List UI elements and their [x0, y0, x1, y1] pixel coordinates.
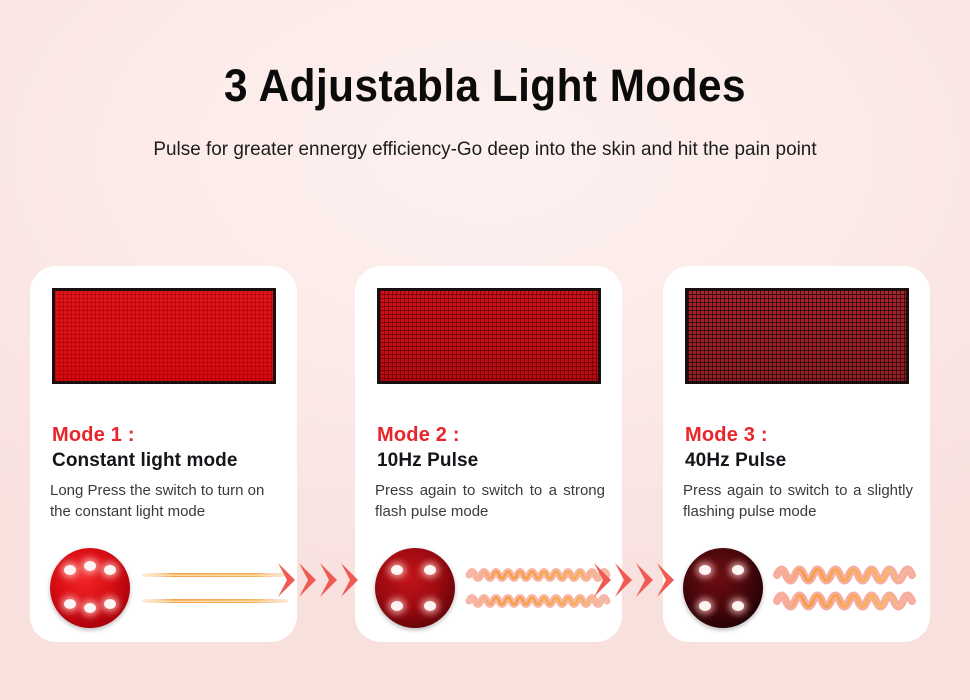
- led-bulb-icon: [683, 548, 763, 628]
- light-beam-wave-tight-icon: [465, 560, 615, 616]
- chevron-right-icon: [657, 563, 674, 597]
- mode-description: Press again to switch to a strong flash …: [375, 480, 605, 522]
- led-dot-icon: [424, 601, 436, 611]
- arrow-chevrons-group: [278, 557, 364, 603]
- light-beam-wave-wide-icon: [773, 560, 923, 616]
- led-dot-icon: [424, 565, 436, 575]
- chevron-right-icon: [636, 563, 653, 597]
- led-dot-icon: [64, 565, 76, 575]
- arrow-chevrons-group: [594, 557, 680, 603]
- chevron-right-icon: [594, 563, 611, 597]
- led-bulb-icon: [375, 548, 455, 628]
- led-panel: [685, 288, 909, 384]
- mode-name: Constant light mode: [52, 450, 238, 472]
- mode-label: Mode 3 :: [685, 424, 768, 447]
- led-dot-icon: [391, 601, 403, 611]
- led-dot-icon: [391, 565, 403, 575]
- emitter-illustration: [369, 542, 619, 634]
- emitter-illustration: [44, 542, 294, 634]
- mode-description: Long Press the switch to turn on the con…: [50, 480, 280, 522]
- chevron-right-icon: [615, 563, 632, 597]
- led-dot-icon: [699, 565, 711, 575]
- chevron-right-icon: [299, 563, 316, 597]
- page-title: 3 Adjustabla Light Modes: [29, 60, 941, 112]
- chevron-right-icon: [278, 563, 295, 597]
- led-dot-icon: [732, 601, 744, 611]
- led-panel: [377, 288, 601, 384]
- chevron-right-icon: [320, 563, 337, 597]
- led-dot-icon: [699, 601, 711, 611]
- mode-card: Mode 2 : 10Hz Pulse Press again to switc…: [355, 266, 622, 642]
- mode-label: Mode 2 :: [377, 424, 460, 447]
- led-dot-icon: [104, 599, 116, 609]
- led-bulb-icon: [50, 548, 130, 628]
- led-dot-icon: [104, 565, 116, 575]
- led-dot-icon: [84, 561, 96, 571]
- page-subtitle: Pulse for greater ennergy efficiency-Go …: [15, 138, 956, 161]
- mode-label: Mode 1 :: [52, 424, 135, 447]
- infographic-root: 3 Adjustabla Light Modes Pulse for great…: [0, 0, 970, 700]
- mode-card: Mode 3 : 40Hz Pulse Press again to switc…: [663, 266, 930, 642]
- mode-description: Press again to switch to a slightly flas…: [683, 480, 913, 522]
- led-dot-icon: [732, 565, 744, 575]
- led-dot-icon: [84, 603, 96, 613]
- led-dot-icon: [64, 599, 76, 609]
- led-panel: [52, 288, 276, 384]
- chevron-right-icon: [341, 563, 358, 597]
- mode-card: Mode 1 : Constant light mode Long Press …: [30, 266, 297, 642]
- emitter-illustration: [677, 542, 927, 634]
- mode-name: 10Hz Pulse: [377, 450, 478, 472]
- mode-name: 40Hz Pulse: [685, 450, 786, 472]
- light-beam-straight-icon: [140, 560, 290, 616]
